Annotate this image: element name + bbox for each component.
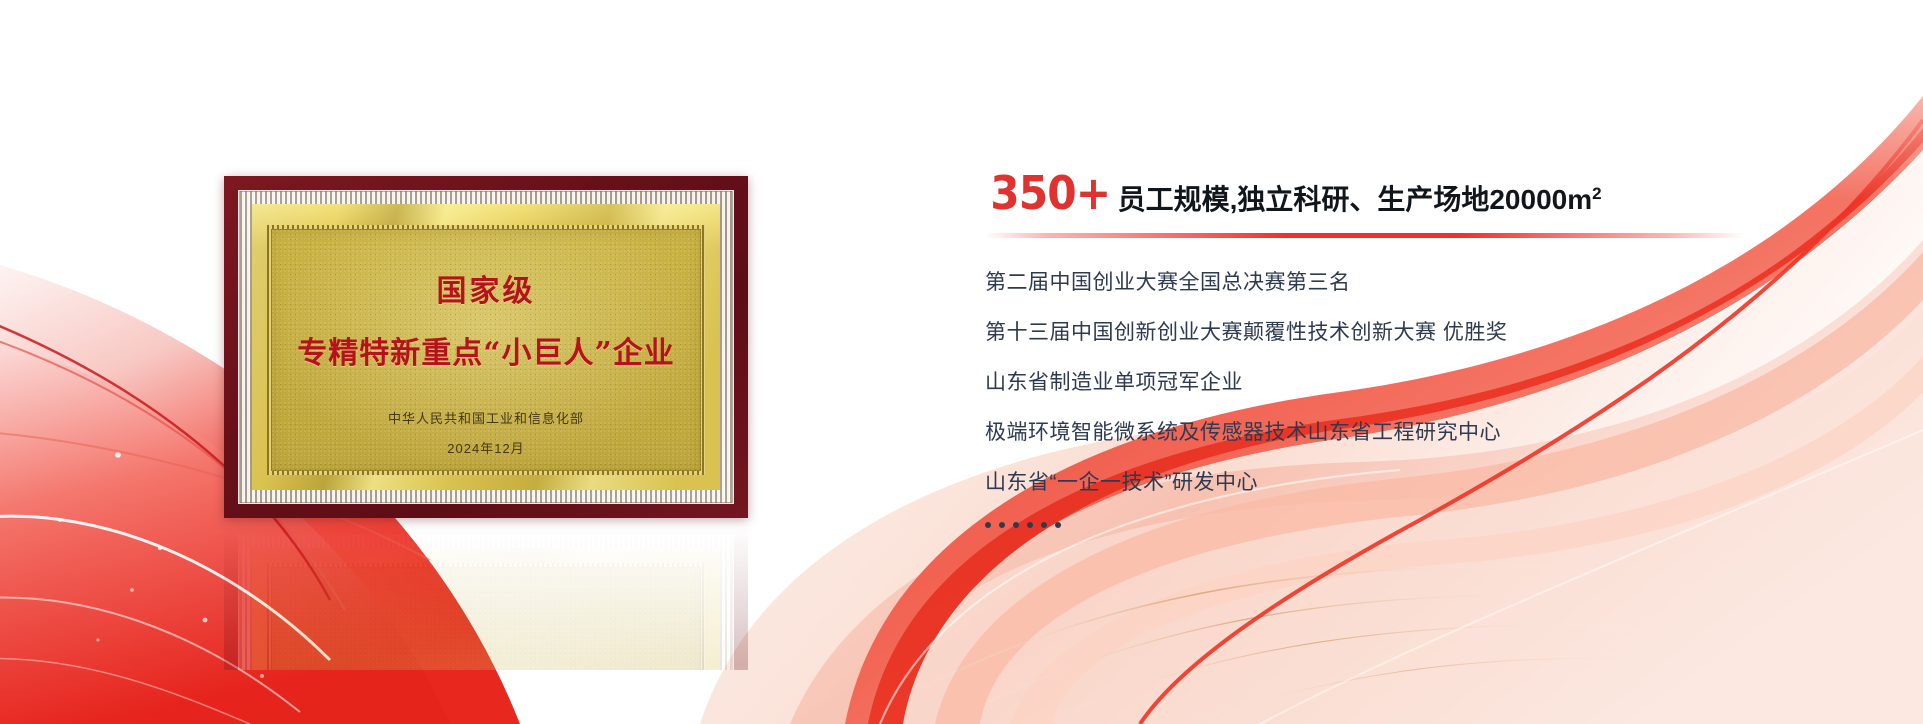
plaque-silver-band: 国家级 专精特新重点“小巨人”企业 中华人民共和国工业和信息化部 2024年12… <box>238 190 734 504</box>
ellipsis-dot <box>1013 522 1019 528</box>
headline-underline <box>985 233 1745 238</box>
headline-number: 350+ <box>990 170 1110 216</box>
award-list: 第二届中国创业大赛全国总决赛第三名 第十三届中国创新创业大赛颠覆性技术创新大赛 … <box>985 272 1785 528</box>
ellipsis-dot <box>1027 522 1033 528</box>
plaque-gold-plate: 国家级 专精特新重点“小巨人”企业 中华人民共和国工业和信息化部 2024年12… <box>252 204 720 490</box>
honors-banner: 国家级 专精特新重点“小巨人”企业 中华人民共和国工业和信息化部 2024年12… <box>0 0 1923 724</box>
list-item: 第十三届中国创新创业大赛颠覆性技术创新大赛 优胜奖 <box>985 322 1785 343</box>
plaque-title-line-1: 国家级 <box>437 266 536 310</box>
plaque-frame: 国家级 专精特新重点“小巨人”企业 中华人民共和国工业和信息化部 2024年12… <box>224 176 748 518</box>
ellipsis-dot <box>985 522 991 528</box>
list-item: 极端环境智能微系统及传感器技术山东省工程研究中心 <box>985 422 1785 443</box>
plaque-issuer: 中华人民共和国工业和信息化部 <box>388 408 584 427</box>
plaque-reflection <box>224 520 748 670</box>
headline: 350+ 员工规模,独立科研、生产场地20000m 2 <box>985 170 1785 216</box>
content-column: 350+ 员工规模,独立科研、生产场地20000m 2 第二届中国创业大赛全国总… <box>985 170 1785 528</box>
headline-superscript: 2 <box>1592 185 1601 202</box>
list-item: 山东省“一企一技术”研发中心 <box>985 472 1785 493</box>
ellipsis-dot <box>1041 522 1047 528</box>
ellipsis-dot <box>999 522 1005 528</box>
list-item: 山东省制造业单项冠军企业 <box>985 372 1785 393</box>
ellipsis-dot <box>1055 522 1061 528</box>
ellipsis-indicator <box>985 522 1785 528</box>
plaque-title-line-2: 专精特新重点“小巨人”企业 <box>297 328 675 372</box>
headline-text: 员工规模,独立科研、生产场地20000m <box>1118 186 1593 214</box>
award-plaque: 国家级 专精特新重点“小巨人”企业 中华人民共和国工业和信息化部 2024年12… <box>224 176 748 518</box>
list-item: 第二届中国创业大赛全国总决赛第三名 <box>985 272 1785 293</box>
plaque-date: 2024年12月 <box>447 438 524 457</box>
plaque-engraved-field: 国家级 专精特新重点“小巨人”企业 中华人民共和国工业和信息化部 2024年12… <box>267 225 705 475</box>
